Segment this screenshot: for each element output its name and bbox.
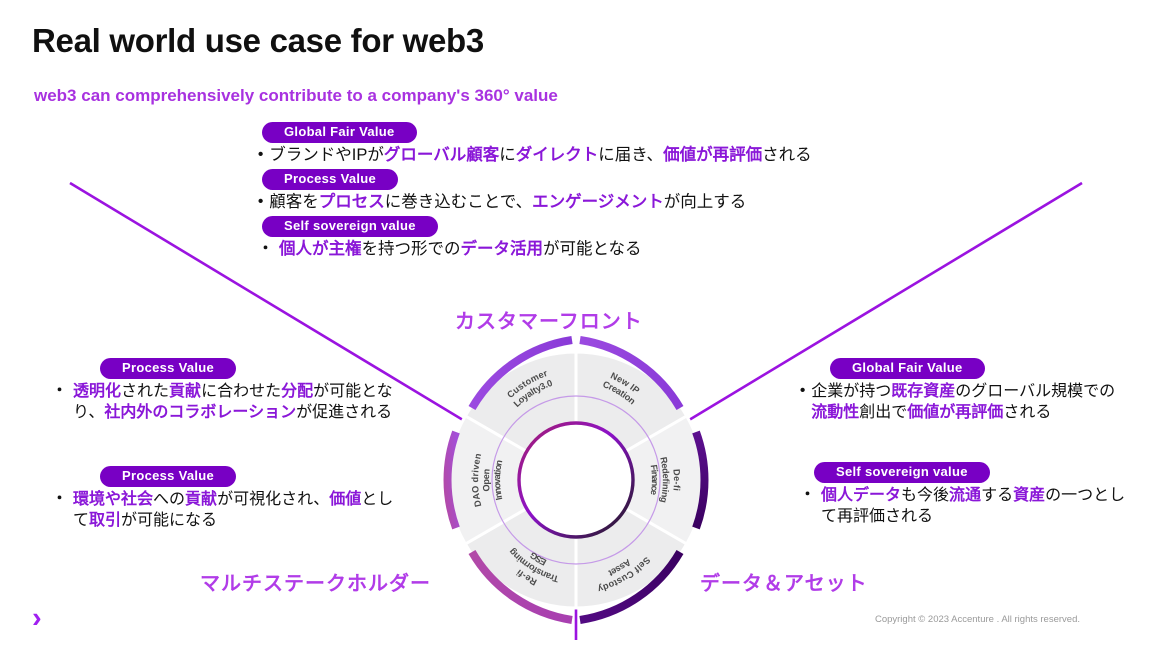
bullet-marker: ・	[800, 485, 815, 505]
callout-group-left-2: Process Value ・ 環境や社会への貢献が可視化され、価値として取引が…	[52, 466, 397, 531]
bullet-text: 透明化された貢献に合わせた分配が可能となり、社内外のコラボレーションが促進される	[73, 381, 397, 423]
pill-wrap: Global Fair Value	[800, 358, 1130, 379]
segment-label-defi-2: Finance	[649, 464, 660, 496]
bullet-marker: ・	[258, 239, 273, 259]
bullet-text: ブランドやIPがグローバル顧客にダイレクトに届き、価値が再評価される	[269, 145, 811, 167]
callout-bullet: • ブランドやIPがグローバル顧客にダイレクトに届き、価値が再評価される	[258, 145, 958, 167]
bullet-marker: ・	[52, 489, 67, 509]
callout-bullet: ・ 個人が主権を持つ形でのデータ活用が可能となる	[258, 239, 958, 261]
pill-wrap: Process Value	[258, 169, 958, 190]
region-label-multi-stakeholder: マルチステークホルダー	[200, 567, 431, 596]
callout-pill-global-fair-value[interactable]: Global Fair Value	[830, 358, 985, 379]
web3-value-wheel: Customer Loyalty3.0 New IP Creation De-f…	[406, 330, 746, 630]
region-label-data-asset: データ＆アセット	[700, 567, 868, 596]
callout-pill-self-sovereign-value[interactable]: Self sovereign value	[814, 462, 990, 483]
callout-top-1: Process Value • 顧客をプロセスに巻き込むことで、エンゲージメント…	[258, 169, 958, 214]
wheel-hub	[519, 423, 633, 537]
pill-wrap: Global Fair Value	[258, 122, 958, 143]
callout-pill-global-fair-value[interactable]: Global Fair Value	[262, 122, 417, 143]
callout-pill-process-value[interactable]: Process Value	[100, 358, 236, 379]
segment-label-defi-0: De-fi	[671, 469, 682, 492]
callout-pill-self-sovereign-value[interactable]: Self sovereign value	[262, 216, 438, 237]
copyright-text: Copyright © 2023 Accenture . All rights …	[875, 614, 1080, 625]
bullet-text: 顧客をプロセスに巻き込むことで、エンゲージメントが向上する	[269, 192, 746, 214]
bullet-text: 企業が持つ既存資産のグローバル規模での流動性創出で価値が再評価される	[811, 381, 1130, 423]
callout-bullet: • 顧客をプロセスに巻き込むことで、エンゲージメントが向上する	[258, 192, 958, 214]
pill-wrap: Process Value	[52, 466, 397, 487]
segment-label-dao-1: Open	[481, 468, 492, 492]
bullet-marker: •	[258, 145, 263, 165]
page-title: Real world use case for web3	[32, 22, 484, 60]
callout-bullet: • 企業が持つ既存資産のグローバル規模での流動性創出で価値が再評価される	[800, 381, 1130, 423]
callout-group-top: Global Fair Value • ブランドやIPがグローバル顧客にダイレク…	[258, 122, 958, 263]
callout-top-0: Global Fair Value • ブランドやIPがグローバル顧客にダイレク…	[258, 122, 958, 167]
slide-canvas: Real world use case for web3 web3 can co…	[0, 0, 1152, 648]
callout-pill-process-value[interactable]: Process Value	[262, 169, 398, 190]
pill-wrap: Self sovereign value	[800, 462, 1130, 483]
pill-wrap: Self sovereign value	[258, 216, 958, 237]
bullet-text: 個人が主権を持つ形でのデータ活用が可能となる	[279, 239, 642, 261]
next-chevron-icon[interactable]: ›	[32, 604, 42, 633]
bullet-marker: •	[258, 192, 263, 212]
callout-top-2: Self sovereign value ・ 個人が主権を持つ形でのデータ活用が…	[258, 216, 958, 261]
callout-bullet: ・ 環境や社会への貢献が可視化され、価値として取引が可能になる	[52, 489, 397, 531]
callout-group-left-1: Process Value ・ 透明化された貢献に合わせた分配が可能となり、社内…	[52, 358, 397, 423]
region-label-customer-front: カスタマーフロント	[455, 305, 643, 334]
callout-bullet: ・ 透明化された貢献に合わせた分配が可能となり、社内外のコラボレーションが促進さ…	[52, 381, 397, 423]
callout-group-right-1: Global Fair Value • 企業が持つ既存資産のグローバル規模での流…	[800, 358, 1130, 423]
bullet-text: 環境や社会への貢献が可視化され、価値として取引が可能になる	[73, 489, 397, 531]
bullet-text: 個人データも今後流通する資産の一つとして再評価される	[821, 485, 1130, 527]
callout-pill-process-value[interactable]: Process Value	[100, 466, 236, 487]
callout-bullet: ・ 個人データも今後流通する資産の一つとして再評価される	[800, 485, 1130, 527]
bullet-marker: •	[800, 381, 805, 401]
pill-wrap: Process Value	[52, 358, 397, 379]
callout-group-right-2: Self sovereign value ・ 個人データも今後流通する資産の一つ…	[800, 462, 1130, 527]
bullet-marker: ・	[52, 381, 67, 401]
page-subtitle: web3 can comprehensively contribute to a…	[34, 86, 558, 106]
